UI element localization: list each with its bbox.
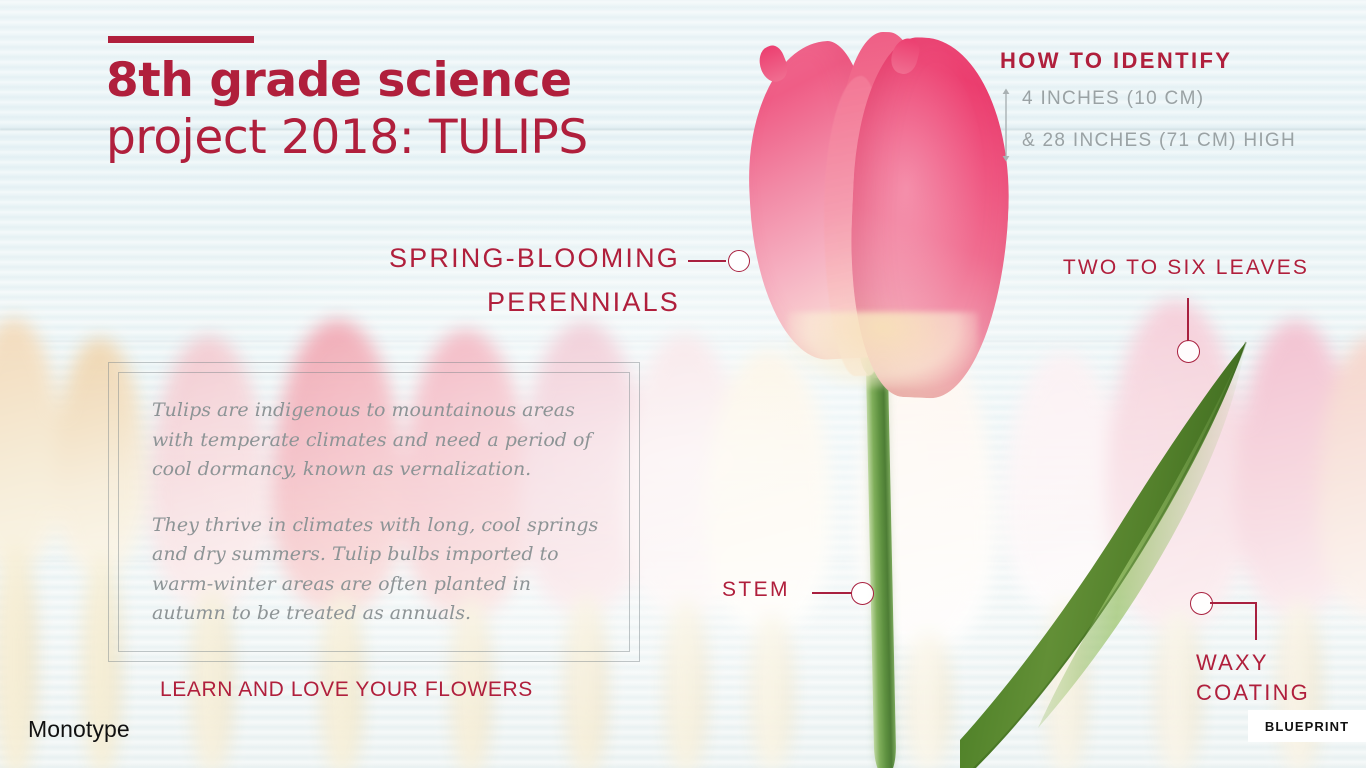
how-to-identify-block: HOW TO IDENTIFY 4 INCHES (10 CM) & 28 IN… <box>1000 48 1360 152</box>
callout-two-to-six-leaves: TWO TO SIX LEAVES <box>1026 256 1346 280</box>
tulip-stem <box>865 346 896 768</box>
leader-dot-stem <box>851 582 874 605</box>
leader-dot-spring <box>728 250 750 272</box>
leader-line-waxy-horizontal <box>1210 602 1257 604</box>
leader-dot-leaves <box>1177 340 1200 363</box>
tulip-base-highlight <box>788 312 978 388</box>
tagline: LEARN AND LOVE YOUR FLOWERS <box>160 678 533 702</box>
how-to-identify-heading: HOW TO IDENTIFY <box>1000 48 1360 74</box>
callout-waxy-line-1: WAXY <box>1196 648 1346 678</box>
measurement-line-1: 4 INCHES (10 CM) <box>1022 88 1360 110</box>
page-title: 8th grade science project 2018: TULIPS <box>106 52 726 166</box>
callout-spring-line-2: PERENNIALS <box>230 280 680 324</box>
blueprint-badge-label: BLUEPRINT <box>1265 719 1349 734</box>
title-line-2: project 2018: TULIPS <box>106 109 726 166</box>
callout-stem: STEM <box>722 578 790 602</box>
callout-waxy-coating: WAXY COATING <box>1196 648 1346 708</box>
measurement-line-2: & 28 INCHES (71 CM) HIGH <box>1022 130 1360 152</box>
leader-line-leaves <box>1187 298 1189 342</box>
title-accent-bar <box>108 36 254 43</box>
dimension-arrow-icon <box>1000 88 1012 162</box>
callout-spring-line-1: SPRING-BLOOMING <box>230 236 680 280</box>
monotype-logo: Monotype <box>28 716 130 743</box>
body-paragraph-2: They thrive in climates with long, cool … <box>152 511 602 629</box>
blueprint-badge: BLUEPRINT <box>1248 710 1366 742</box>
leader-line-stem <box>812 592 852 594</box>
leader-line-spring <box>688 260 726 262</box>
leader-line-waxy-vertical <box>1255 602 1257 640</box>
body-paragraph-1: Tulips are indigenous to mountainous are… <box>152 396 602 485</box>
callout-spring-blooming: SPRING-BLOOMING PERENNIALS <box>230 236 680 324</box>
callout-waxy-line-2: COATING <box>1196 678 1346 708</box>
title-line-1: 8th grade science <box>106 52 726 109</box>
body-copy: Tulips are indigenous to mountainous are… <box>152 396 602 629</box>
poster-canvas: 8th grade science project 2018: TULIPS H… <box>0 0 1366 768</box>
